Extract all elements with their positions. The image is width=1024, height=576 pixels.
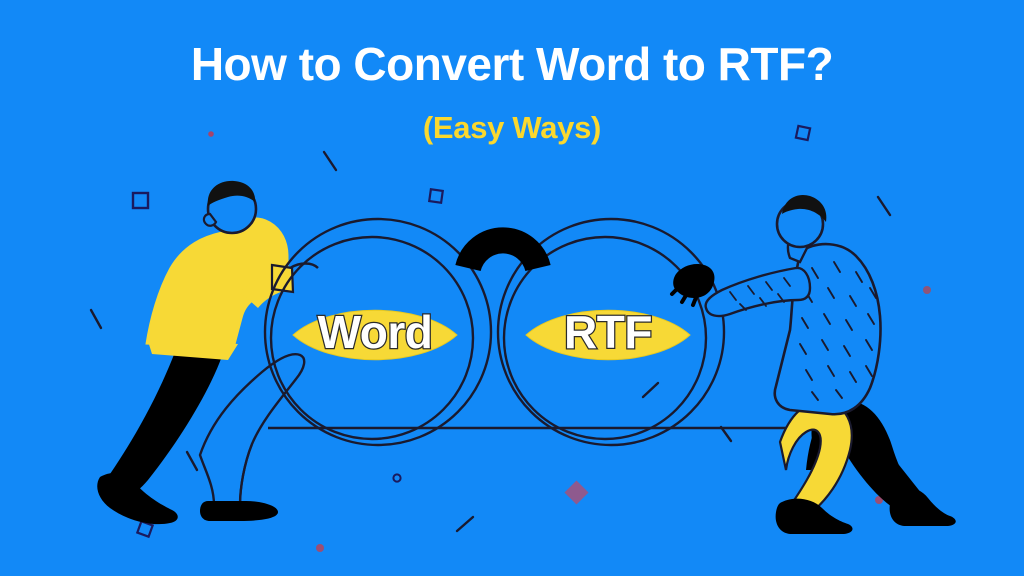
- dot-icon: [316, 544, 324, 552]
- banner-canvas: How to Convert Word to RTF? (Easy Ways) …: [0, 0, 1024, 576]
- dot-icon: [923, 286, 931, 294]
- dot-icon: [208, 131, 214, 137]
- left-person-back-shoe: [200, 501, 278, 521]
- illustration-artwork: [0, 0, 1024, 576]
